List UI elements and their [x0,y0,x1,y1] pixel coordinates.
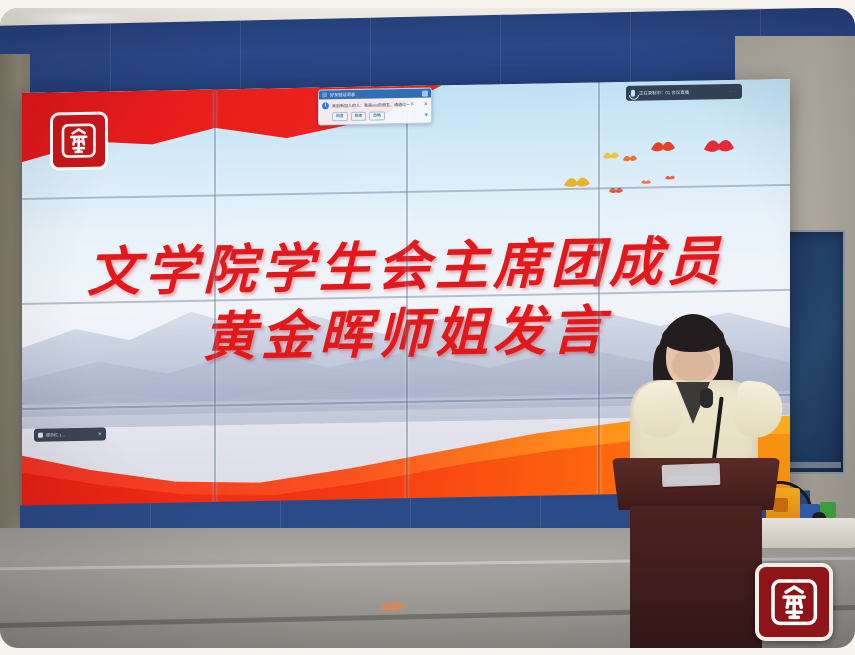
bird-icon [608,184,624,195]
toast-message: 来自新加入的人：我是xxx的朋友，请通过一下 [332,101,421,109]
face-shading [672,348,714,382]
heart-icon[interactable]: ♥ [424,112,428,118]
microphone-head [700,388,713,408]
toast-title: 好友验证消息 [330,90,419,98]
bird-icon [702,132,736,157]
microphone-icon [631,90,635,97]
speech-papers [662,463,721,487]
corner-seal-watermark [755,563,833,641]
bangs [662,322,724,352]
photograph: 文学院学生会主席团成员 黄金晖师姐发言 好友验证消息 [0,8,855,648]
bird-icon [562,171,592,192]
flying-birds-group [562,119,762,213]
bird-icon [640,177,652,185]
im-notification-toast[interactable]: 好友验证消息 i 来自新加入的人：我是xxx的朋友，请通过一下 ✕ 同意 拒绝 … [318,87,432,125]
close-icon[interactable]: ✕ [424,101,428,107]
close-icon[interactable]: ✕ [98,431,102,437]
lectern-top [612,458,780,510]
edit-icon[interactable] [422,90,428,96]
recording-status-bar[interactable]: 正在录制中：01 会议直播 ··· [626,84,742,101]
jacket-collar-right [733,380,785,441]
screenshot-root: 文学院学生会主席团成员 黄金晖师姐发言 好友验证消息 [0,0,855,655]
app-icon [322,92,327,97]
panel-icon [38,433,43,438]
toast-actions: 同意 拒绝 忽略 ♥ [319,111,431,125]
lectern-body [630,506,762,648]
floor-marking [380,601,407,613]
mini-toolbar-label: 提示栏 1… [46,431,95,438]
info-icon: i [322,102,329,109]
headline-line-1: 文学院学生会主席团成员 [22,231,790,307]
bird-icon [664,173,676,181]
bird-icon [622,152,638,164]
floating-mini-toolbar[interactable]: 提示栏 1… ✕ [34,427,106,441]
bird-icon [650,135,676,155]
wen-xue-yuan-seal-icon [50,111,108,170]
accept-button[interactable]: 同意 [332,112,348,121]
more-options-icon[interactable]: ··· [730,89,737,94]
recording-status-text: 正在录制中：01 会议直播 [639,89,726,97]
ignore-button[interactable]: 忽略 [369,111,385,120]
bird-icon [602,148,620,161]
reject-button[interactable]: 拒绝 [351,112,367,121]
